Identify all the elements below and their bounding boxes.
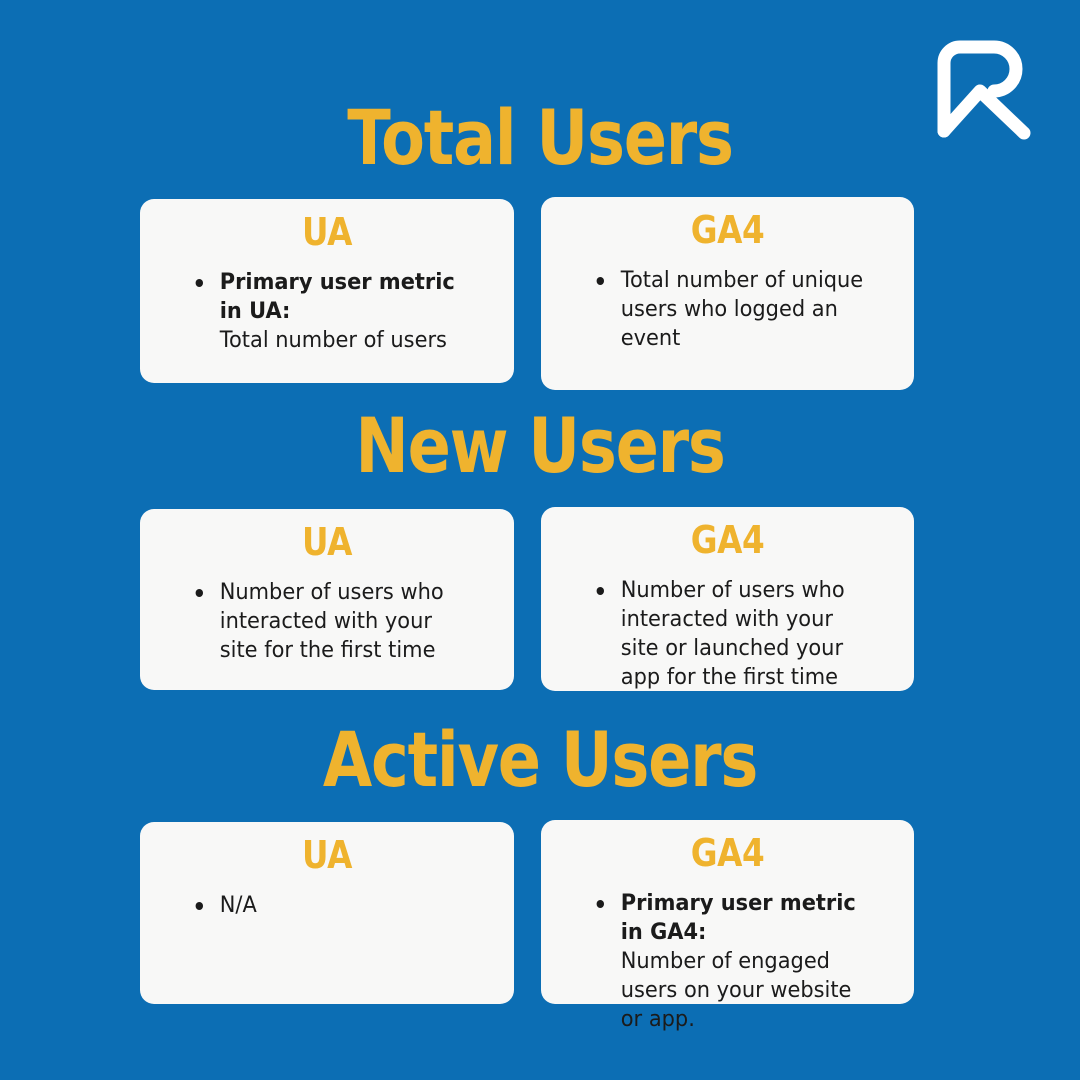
card-title-ua: UA	[166, 523, 488, 561]
card-active-users-ua: UA N/A	[140, 822, 514, 1004]
bullet-body-text: Number of users who interacted with your…	[220, 578, 475, 665]
card-title-ua: UA	[166, 213, 488, 251]
bullet-lead-text: Primary user metric in GA4:	[621, 889, 875, 947]
bullet-body-text: Total number of unique users who logged …	[621, 266, 875, 353]
card-title-ua: UA	[166, 836, 488, 874]
card-total-users-ga4: GA4 Total number of unique users who log…	[541, 197, 914, 390]
list-item: N/A	[190, 891, 475, 920]
card-bullet-list: Primary user metric in GA4: Number of en…	[541, 889, 914, 1034]
card-new-users-ga4: GA4 Number of users who interacted with …	[541, 507, 914, 691]
card-title-ga4: GA4	[567, 521, 888, 559]
section-title-new-users: New Users	[86, 408, 993, 484]
card-title-ga4: GA4	[567, 211, 888, 249]
card-bullet-list: Number of users who interacted with your…	[140, 578, 514, 665]
card-bullet-list: Primary user metric in UA: Total number …	[140, 268, 514, 355]
card-title-ga4: GA4	[567, 834, 888, 872]
section-title-total-users: Total Users	[86, 100, 993, 176]
bullet-body-text: Total number of users	[220, 326, 475, 355]
list-item: Primary user metric in GA4: Number of en…	[591, 889, 875, 1034]
infographic-canvas: Total Users UA Primary user metric in UA…	[0, 0, 1080, 1080]
card-bullet-list: Number of users who interacted with your…	[541, 576, 914, 692]
list-item: Number of users who interacted with your…	[190, 578, 475, 665]
card-bullet-list: Total number of unique users who logged …	[541, 266, 914, 353]
section-title-active-users: Active Users	[86, 722, 993, 798]
bullet-body-text: Number of users who interacted with your…	[621, 576, 875, 692]
card-bullet-list: N/A	[140, 891, 514, 920]
card-active-users-ga4: GA4 Primary user metric in GA4: Number o…	[541, 820, 914, 1004]
card-new-users-ua: UA Number of users who interacted with y…	[140, 509, 514, 690]
card-total-users-ua: UA Primary user metric in UA: Total numb…	[140, 199, 514, 383]
list-item: Number of users who interacted with your…	[591, 576, 875, 692]
bullet-body-text: Number of engaged users on your website …	[621, 947, 875, 1034]
list-item: Total number of unique users who logged …	[591, 266, 875, 353]
bullet-lead-text: Primary user metric in UA:	[220, 268, 475, 326]
list-item: Primary user metric in UA: Total number …	[190, 268, 475, 355]
bullet-body-text: N/A	[220, 891, 475, 920]
